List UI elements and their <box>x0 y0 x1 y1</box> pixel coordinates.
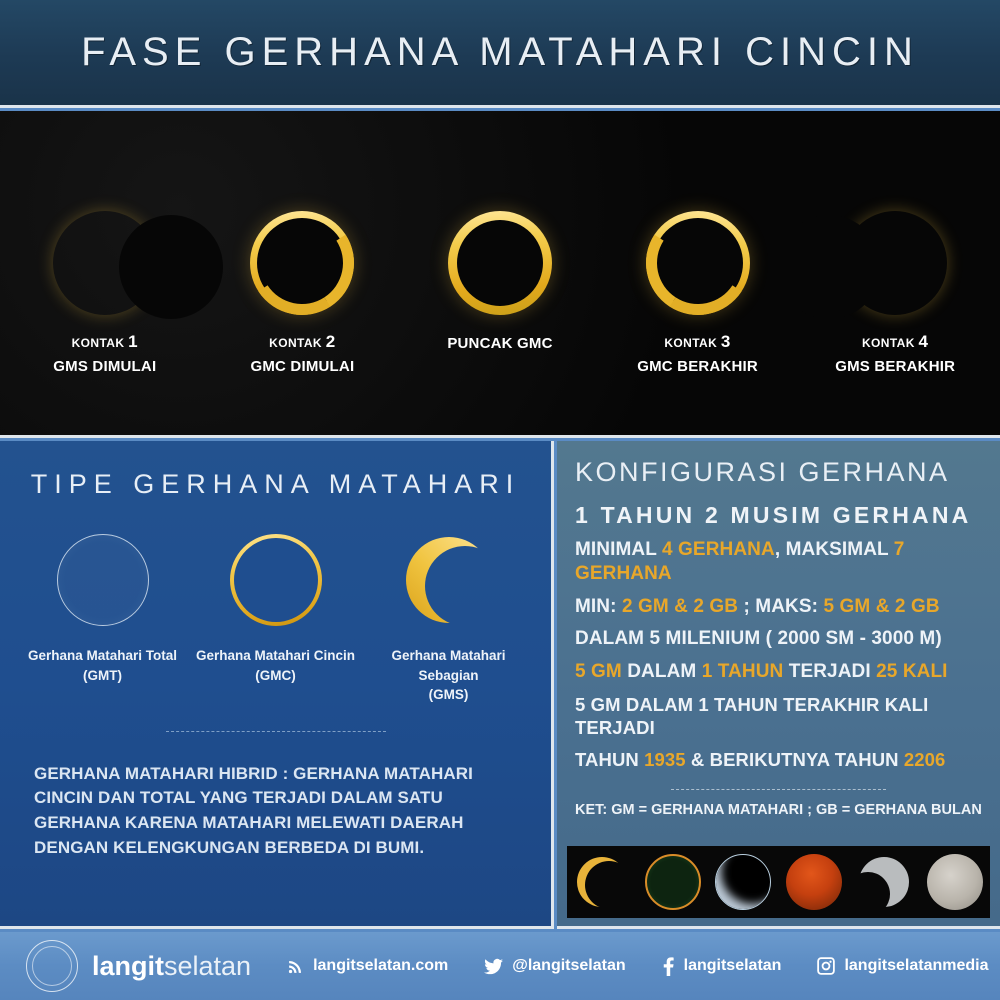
langitselatan-logo-icon <box>26 940 78 992</box>
hybrid-description: GERHANA MATAHARI HIBRID : GERHANA MATAHA… <box>34 762 517 861</box>
plain-text: MINIMAL <box>575 539 662 560</box>
highlighted-text: 2 GM & 2 GB <box>622 596 738 617</box>
eclipse-crescent-icon <box>403 534 495 626</box>
phase-kontak-number: 1 <box>128 332 138 351</box>
eclipse-phases-section: KONTAK 1 GMS DIMULAI KONTAK 2 GMC DIMULA… <box>0 111 1000 438</box>
eclipse-photo-strip <box>567 846 990 918</box>
highlighted-text: 25 KALI <box>876 661 947 682</box>
divider-dashed <box>671 789 886 790</box>
photo-full-moon <box>927 854 983 910</box>
social-label: @langitselatan <box>512 957 625 975</box>
footer-bar: langitselatan langitselatan.com <box>0 932 1000 1000</box>
plain-text: ; MAKS: <box>738 596 823 617</box>
eclipse-annular-icon <box>230 534 322 626</box>
eclipse-partial-icon <box>843 211 947 315</box>
plain-text: TERJADI <box>783 661 876 682</box>
phase-caption: KONTAK 4 GMS BERAKHIR <box>835 331 955 377</box>
photo-lunar-blood-moon <box>786 854 842 910</box>
instagram-icon <box>817 957 835 975</box>
social-label: langitselatanmedia <box>844 957 988 975</box>
phase-kontak-number: 2 <box>326 332 336 351</box>
phase-kontak-line: KONTAK 1 <box>53 331 156 354</box>
phase-kontak-line: KONTAK 3 <box>637 331 758 354</box>
configuration-title: KONFIGURASI GERHANA <box>575 457 1000 488</box>
social-label: langitselatan <box>684 957 782 975</box>
type-item-partial: Gerhana Matahari Sebagian(GMS) <box>366 534 531 705</box>
highlighted-text: 2206 <box>904 749 946 770</box>
phase-item-1: KONTAK 1 GMS DIMULAI <box>12 111 198 377</box>
social-links: langitselatan.com @langitselatan langits… <box>251 957 988 976</box>
phase-sub-label: GMC DIMULAI <box>250 357 354 377</box>
eclipse-annular-icon <box>250 211 354 315</box>
highlighted-text: 1 TAHUN <box>702 661 784 682</box>
plain-text: DALAM 5 MILENIUM ( 2000 SM - 3000 M) <box>575 628 942 649</box>
type-label: Gerhana Matahari Total(GMT) <box>28 646 177 685</box>
configuration-lines: MINIMAL 4 GERHANA, MAKSIMAL 7 GERHANA MI… <box>557 538 1000 771</box>
social-link-twitter[interactable]: @langitselatan <box>484 957 625 975</box>
eclipse-partial-icon <box>53 211 157 315</box>
config-line: TAHUN 1935 & BERIKUTNYA TAHUN 2206 <box>575 748 1000 771</box>
phase-sub-label: PUNCAK GMC <box>447 334 552 354</box>
facebook-icon <box>662 957 675 976</box>
config-line: 5 GM DALAM 1 TAHUN TERJADI 25 KALI <box>575 660 1000 684</box>
phase-caption: KONTAK 2 GMC DIMULAI <box>250 331 354 377</box>
type-item-annular: Gerhana Matahari Cincin(GMC) <box>193 534 358 685</box>
eclipse-annular-icon <box>646 211 750 315</box>
type-label: Gerhana Matahari Sebagian(GMS) <box>366 646 531 705</box>
type-label: Gerhana Matahari Cincin(GMC) <box>196 646 355 685</box>
highlighted-text: 5 GM <box>575 661 622 682</box>
phase-caption: KONTAK 3 GMC BERAKHIR <box>637 331 758 377</box>
config-line: 5 GM DALAM 1 TAHUN TERAKHIR KALI TERJADI <box>575 693 1000 739</box>
page-title: FASE GERHANA MATAHARI CINCIN <box>81 30 919 75</box>
eclipse-total-icon <box>57 534 149 626</box>
config-line: MIN: 2 GM & 2 GB ; MAKS: 5 GM & 2 GB <box>575 595 1000 619</box>
divider-dashed <box>166 731 386 732</box>
phase-item-5: KONTAK 4 GMS BERAKHIR <box>802 111 988 377</box>
social-link-facebook[interactable]: langitselatan <box>662 957 782 976</box>
phase-item-4: KONTAK 3 GMC BERAKHIR <box>605 111 791 377</box>
rss-icon <box>287 958 304 975</box>
plain-text: DALAM <box>622 661 702 682</box>
eclipse-types-row: Gerhana Matahari Total(GMT) Gerhana Mata… <box>0 534 551 705</box>
highlighted-text: 1935 <box>644 749 686 770</box>
photo-solar-total-diamond-ring <box>715 854 771 910</box>
phase-sub-label: GMC BERAKHIR <box>637 357 758 377</box>
photo-lunar-partial <box>856 854 912 910</box>
photo-solar-crescent <box>574 854 630 910</box>
highlighted-text: 4 GERHANA <box>662 539 775 560</box>
configuration-subtitle: 1 TAHUN 2 MUSIM GERHANA <box>575 502 1000 529</box>
phase-kontak-line: KONTAK 2 <box>250 331 354 354</box>
plain-text: TAHUN <box>575 749 644 770</box>
plain-text: MIN: <box>575 596 622 617</box>
social-link-website[interactable]: langitselatan.com <box>287 957 448 975</box>
brand-name: langitselatan <box>92 951 251 982</box>
social-label: langitselatan.com <box>313 957 448 975</box>
photo-solar-annular <box>645 854 701 910</box>
phase-item-3: PUNCAK GMC <box>407 111 593 354</box>
infographic-root: FASE GERHANA MATAHARI CINCIN KONTAK 1 GM… <box>0 0 1000 1000</box>
phase-sub-label: GMS DIMULAI <box>53 357 156 377</box>
legend-text: KET: GM = GERHANA MATAHARI ; GB = GERHAN… <box>575 802 1000 818</box>
phase-sub-label: GMS BERAKHIR <box>835 357 955 377</box>
phase-kontak-number: 3 <box>721 332 731 351</box>
phase-caption: PUNCAK GMC <box>447 331 552 354</box>
eclipse-types-title: TIPE GERHANA MATAHARI <box>0 469 551 500</box>
brand-lockup[interactable]: langitselatan <box>26 940 251 992</box>
twitter-icon <box>484 958 503 975</box>
phase-item-2: KONTAK 2 GMC DIMULAI <box>209 111 395 377</box>
plain-text: 5 GM DALAM 1 TAHUN TERAKHIR KALI TERJADI <box>575 694 928 738</box>
phase-kontak-number: 4 <box>919 332 929 351</box>
phase-kontak-line: KONTAK 4 <box>835 331 955 354</box>
plain-text: & BERIKUTNYA TAHUN <box>686 749 904 770</box>
config-line: MINIMAL 4 GERHANA, MAKSIMAL 7 GERHANA <box>575 538 1000 586</box>
highlighted-text: 5 GM & 2 GB <box>823 596 939 617</box>
social-link-instagram[interactable]: langitselatanmedia <box>817 957 988 975</box>
eclipse-annular-max-icon <box>448 211 552 315</box>
eclipse-configuration-panel: KONFIGURASI GERHANA 1 TAHUN 2 MUSIM GERH… <box>557 441 1000 929</box>
phase-row: KONTAK 1 GMS DIMULAI KONTAK 2 GMC DIMULA… <box>0 111 1000 435</box>
plain-text: , MAKSIMAL <box>775 539 894 560</box>
type-item-total: Gerhana Matahari Total(GMT) <box>20 534 185 685</box>
phase-caption: KONTAK 1 GMS DIMULAI <box>53 331 156 377</box>
config-line: DALAM 5 MILENIUM ( 2000 SM - 3000 M) <box>575 627 1000 651</box>
eclipse-types-panel: TIPE GERHANA MATAHARI Gerhana Matahari T… <box>0 441 554 929</box>
header-bar: FASE GERHANA MATAHARI CINCIN <box>0 0 1000 108</box>
